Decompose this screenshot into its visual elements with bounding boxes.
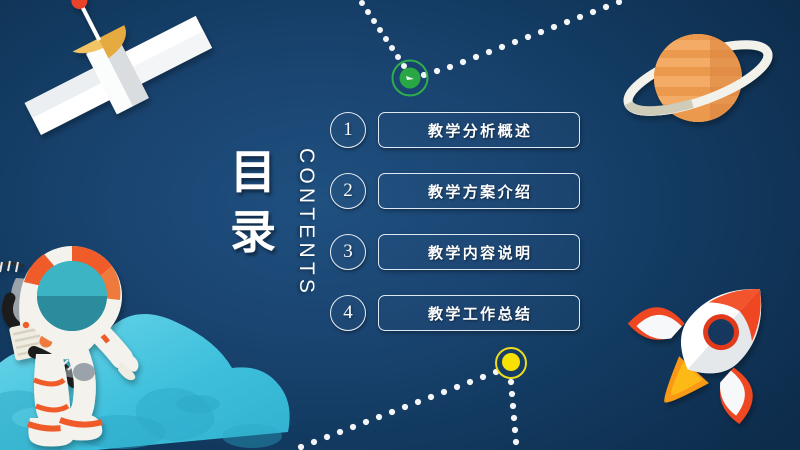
contents-item-list: 1 教学分析概述 2 教学方案介绍 3 教学内容说明 4 教学工作总结 [330, 108, 580, 335]
item-label-button[interactable]: 教学工作总结 [378, 295, 580, 331]
contents-title: 目 录 CONTENTS [222, 142, 332, 292]
contents-title-char-2: 录 [222, 202, 284, 262]
saturn-illustration [621, 31, 776, 125]
list-item[interactable]: 1 教学分析概述 [330, 108, 580, 152]
yellow-node [496, 348, 526, 378]
item-number-badge: 4 [330, 295, 366, 331]
item-number-badge: 3 [330, 234, 366, 270]
green-node [393, 61, 428, 96]
list-item[interactable]: 4 教学工作总结 [330, 291, 580, 335]
item-label-button[interactable]: 教学方案介绍 [378, 173, 580, 209]
item-number-badge: 1 [330, 112, 366, 148]
contents-title-en: CONTENTS [284, 148, 318, 288]
list-item[interactable]: 3 教学内容说明 [330, 230, 580, 274]
item-number-badge: 2 [330, 173, 366, 209]
contents-title-cn: 目 录 [222, 142, 284, 262]
rocket-illustration [605, 239, 800, 449]
slide-canvas: 目 录 CONTENTS 1 教学分析概述 2 教学方案介绍 3 教学内容说明 … [0, 0, 800, 450]
satellite-illustration [25, 0, 212, 135]
list-item[interactable]: 2 教学方案介绍 [330, 169, 580, 213]
contents-title-char-1: 目 [222, 142, 284, 202]
item-label-button[interactable]: 教学分析概述 [378, 112, 580, 148]
item-label-button[interactable]: 教学内容说明 [378, 234, 580, 270]
